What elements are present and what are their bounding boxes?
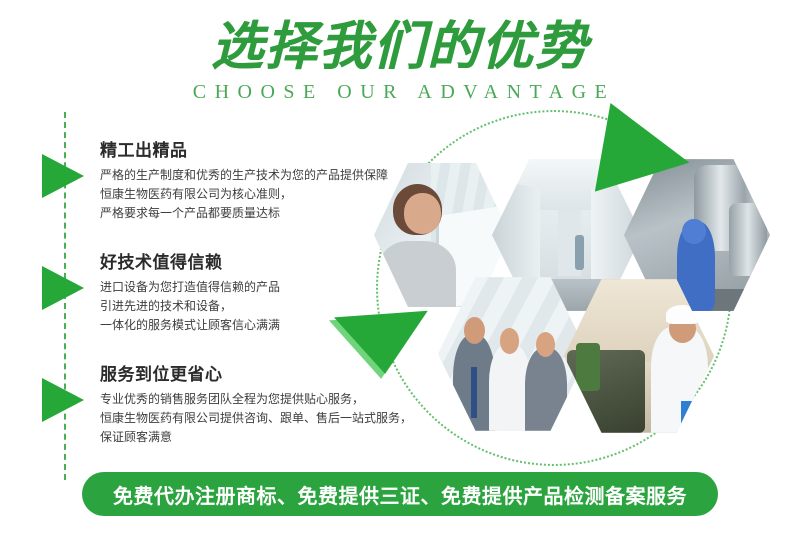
triangle-top-right-icon xyxy=(595,103,697,207)
page-title: 选择我们的优势 CHOOSE OUR ADVANTAGE xyxy=(0,18,800,104)
triangle-bullet-icon xyxy=(42,378,84,422)
advantage-poster: 选择我们的优势 CHOOSE OUR ADVANTAGE 精工出精品 严格的生产… xyxy=(0,0,800,548)
triangle-bottom-left-icon xyxy=(334,311,432,377)
bottom-banner: 免费代办注册商标、免费提供三证、免费提供产品检测备案服务 xyxy=(82,472,718,516)
bottom-banner-text: 免费代办注册商标、免费提供三证、免费提供产品检测备案服务 xyxy=(113,480,687,509)
hexagon-photo-collage xyxy=(352,104,772,464)
title-chinese: 选择我们的优势 xyxy=(0,18,800,76)
triangle-bullet-icon xyxy=(42,154,84,198)
title-english: CHOOSE OUR ADVANTAGE xyxy=(0,80,800,104)
triangle-bullet-icon xyxy=(42,266,84,310)
